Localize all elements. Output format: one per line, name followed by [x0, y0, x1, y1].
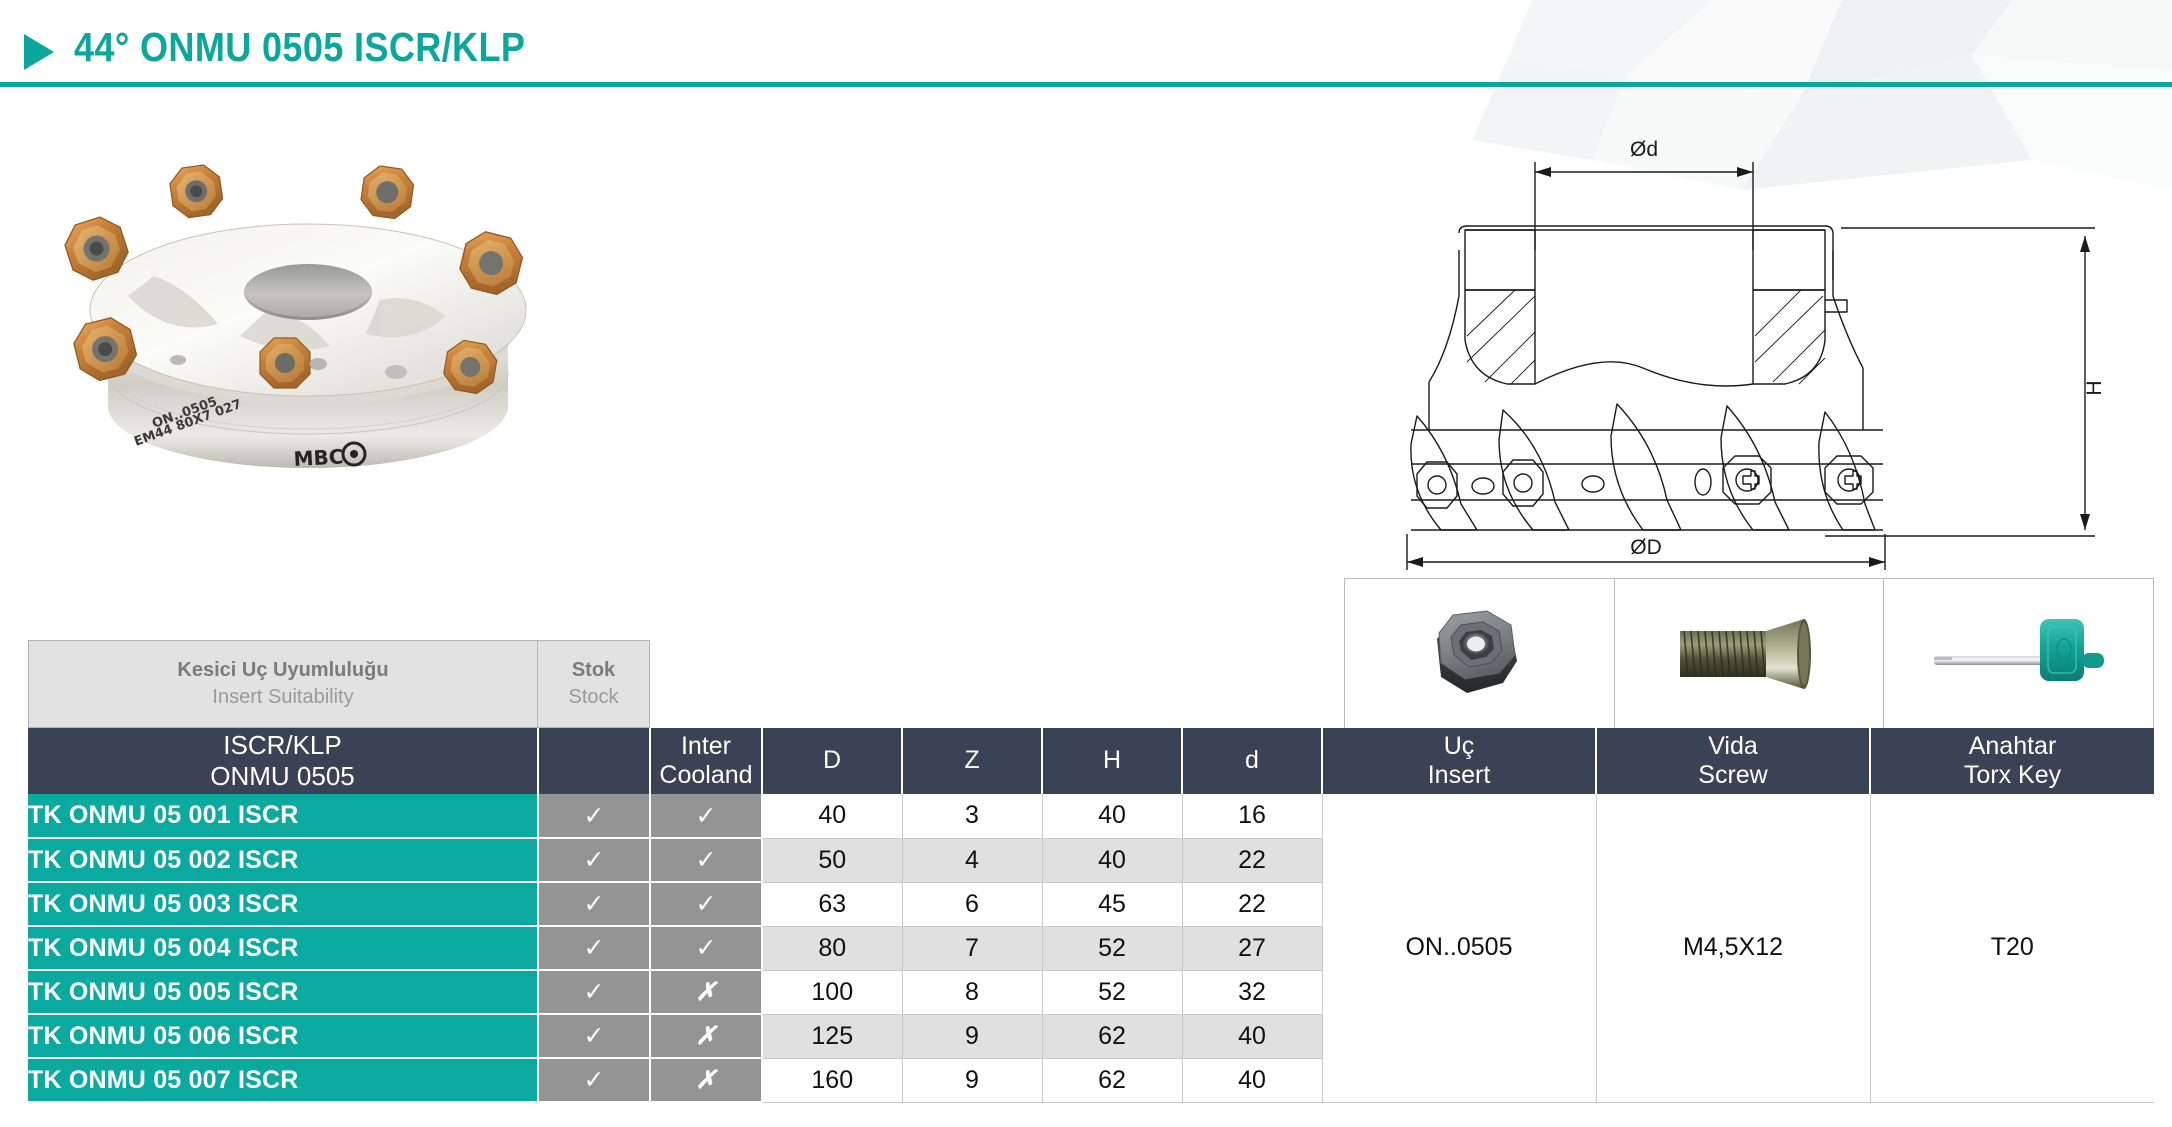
- cell-key-code: T20: [1870, 794, 2154, 1102]
- dim-label-height: H: [2083, 380, 2106, 395]
- header-Z: Z: [902, 728, 1042, 794]
- triangle-right-icon: [24, 34, 54, 70]
- cell-coolant: ✗: [650, 1058, 762, 1102]
- technical-drawing: Ød H ØD: [1355, 100, 2155, 570]
- cell-stock: ✓: [538, 1014, 650, 1058]
- stock-label-en: Stock: [568, 684, 618, 711]
- cell-d: 40: [1182, 1058, 1322, 1102]
- header-H: H: [1042, 728, 1182, 794]
- cell-d: 22: [1182, 882, 1322, 926]
- cell-Z: 3: [902, 794, 1042, 838]
- header-D: D: [762, 728, 902, 794]
- header-screw-tr: Vida: [1597, 732, 1869, 762]
- cell-D: 160: [762, 1058, 902, 1102]
- cell-H: 40: [1042, 838, 1182, 882]
- header-inter-coolant: Inter Cooland: [650, 728, 762, 794]
- cell-Z: 7: [902, 926, 1042, 970]
- cell-H: 62: [1042, 1058, 1182, 1102]
- cell-d: 16: [1182, 794, 1322, 838]
- cell-code[interactable]: TK ONMU 05 004 ISCR: [28, 926, 538, 970]
- header-rule: [0, 82, 2172, 87]
- cell-code[interactable]: TK ONMU 05 005 ISCR: [28, 970, 538, 1014]
- cross-icon: ✗: [696, 1066, 717, 1094]
- insert-suitability-label-en: Insert Suitability: [212, 684, 353, 711]
- cell-H: 52: [1042, 926, 1182, 970]
- cell-screw-code: M4,5X12: [1596, 794, 1870, 1102]
- cell-insert-code: ON..0505: [1322, 794, 1596, 1102]
- cell-d: 27: [1182, 926, 1322, 970]
- cell-stock: ✓: [538, 882, 650, 926]
- cell-D: 125: [762, 1014, 902, 1058]
- cross-icon: ✗: [696, 978, 717, 1006]
- cell-stock: ✓: [538, 1058, 650, 1102]
- cell-D: 63: [762, 882, 902, 926]
- header-d: d: [1182, 728, 1322, 794]
- stock-label-tr: Stok: [572, 657, 615, 684]
- insert-suitability-caption: Kesici Uç Uyumluluğu Insert Suitability …: [28, 640, 650, 728]
- cell-D: 100: [762, 970, 902, 1014]
- cell-d: 32: [1182, 970, 1322, 1014]
- cell-code[interactable]: TK ONMU 05 001 ISCR: [28, 794, 538, 838]
- cell-H: 52: [1042, 970, 1182, 1014]
- torx-key-thumbnail: [1924, 609, 2114, 699]
- product-photo: EM44 80X7 027 ON..0505 MBC: [18, 110, 598, 490]
- cell-code[interactable]: TK ONMU 05 003 ISCR: [28, 882, 538, 926]
- cell-coolant: ✗: [650, 970, 762, 1014]
- cell-d: 22: [1182, 838, 1322, 882]
- table-row[interactable]: TK ONMU 05 001 ISCR ✓ ✓ 40 3 40 16 ON..0…: [28, 794, 2154, 838]
- dim-label-outer-diameter: ØD: [1630, 536, 1662, 559]
- header-insert-tr: Uç: [1323, 732, 1595, 762]
- cell-D: 40: [762, 794, 902, 838]
- header-key-tr: Anahtar: [1871, 732, 2154, 762]
- cell-code[interactable]: TK ONMU 05 006 ISCR: [28, 1014, 538, 1058]
- cell-coolant: ✓: [650, 926, 762, 970]
- table-header-row: ISCR/KLP ONMU 0505 Inter Cooland D Z H d…: [28, 728, 2154, 794]
- torx-key-thumbnail-cell: [1883, 578, 2154, 730]
- cell-Z: 4: [902, 838, 1042, 882]
- insert-suitability-label-tr: Kesici Uç Uyumluluğu: [177, 657, 388, 684]
- specification-table: ISCR/KLP ONMU 0505 Inter Cooland D Z H d…: [28, 728, 2154, 1103]
- cell-H: 62: [1042, 1014, 1182, 1058]
- header-code-line1: ISCR/KLP: [28, 730, 537, 761]
- header-coolant-line2: Cooland: [651, 761, 761, 791]
- cell-coolant: ✓: [650, 838, 762, 882]
- insert-thumbnail-cell: [1344, 578, 1614, 730]
- cell-D: 50: [762, 838, 902, 882]
- stock-caption-cell: Stok Stock: [538, 640, 650, 728]
- cell-D: 80: [762, 926, 902, 970]
- table-body: TK ONMU 05 001 ISCR ✓ ✓ 40 3 40 16 ON..0…: [28, 794, 2154, 1102]
- header-key-en: Torx Key: [1871, 761, 2154, 791]
- header-insert-en: Insert: [1323, 761, 1595, 791]
- cell-stock: ✓: [538, 794, 650, 838]
- cell-code[interactable]: TK ONMU 05 007 ISCR: [28, 1058, 538, 1102]
- cross-icon: ✗: [696, 1022, 717, 1050]
- header-torx-key: Anahtar Torx Key: [1870, 728, 2154, 794]
- screw-thumbnail: [1664, 609, 1834, 699]
- cell-d: 40: [1182, 1014, 1322, 1058]
- screw-thumbnail-cell: [1614, 578, 1884, 730]
- header-stock: [538, 728, 650, 794]
- header-code: ISCR/KLP ONMU 0505: [28, 728, 538, 794]
- header-screw-en: Screw: [1597, 761, 1869, 791]
- cell-stock: ✓: [538, 970, 650, 1014]
- header-insert: Uç Insert: [1322, 728, 1596, 794]
- cell-code[interactable]: TK ONMU 05 002 ISCR: [28, 838, 538, 882]
- svg-text:MBC: MBC: [293, 444, 344, 471]
- cell-H: 40: [1042, 794, 1182, 838]
- page-title: 44° ONMU 0505 ISCR/KLP: [74, 24, 525, 71]
- cell-coolant: ✓: [650, 882, 762, 926]
- insert-suitability-cell: Kesici Uç Uyumluluğu Insert Suitability: [28, 640, 538, 728]
- cell-Z: 6: [902, 882, 1042, 926]
- page-header: 44° ONMU 0505 ISCR/KLP: [0, 0, 2172, 90]
- header-coolant-line1: Inter: [651, 732, 761, 762]
- cell-stock: ✓: [538, 926, 650, 970]
- cell-H: 45: [1042, 882, 1182, 926]
- insert-thumbnail: [1419, 599, 1539, 709]
- header-screw: Vida Screw: [1596, 728, 1870, 794]
- accessory-image-strip: [1344, 578, 2154, 730]
- header-code-line2: ONMU 0505: [28, 761, 537, 792]
- cell-coolant: ✓: [650, 794, 762, 838]
- cell-Z: 9: [902, 1014, 1042, 1058]
- cell-coolant: ✗: [650, 1014, 762, 1058]
- catalog-page: 44° ONMU 0505 ISCR/KLP: [0, 0, 2172, 1127]
- cell-Z: 8: [902, 970, 1042, 1014]
- cell-Z: 9: [902, 1058, 1042, 1102]
- cell-stock: ✓: [538, 838, 650, 882]
- dim-label-bore-diameter: Ød: [1630, 138, 1658, 161]
